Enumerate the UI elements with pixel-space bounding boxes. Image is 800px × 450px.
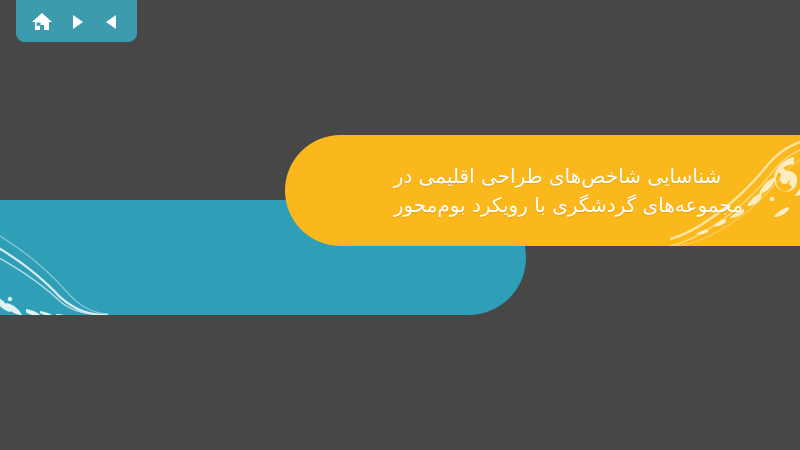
home-icon — [31, 11, 53, 33]
navigation-bar — [16, 0, 137, 42]
title-line-1: شناسایی شاخص‌های طراحی اقلیمی در — [394, 162, 722, 191]
title-banner: شناسایی شاخص‌های طراحی اقلیمی در مجموعه‌… — [285, 135, 800, 246]
previous-button[interactable] — [99, 9, 125, 35]
next-button[interactable] — [64, 9, 90, 35]
home-button[interactable] — [29, 9, 55, 35]
accent-bar-ornament-icon — [0, 200, 110, 315]
title-text-block: شناسایی شاخص‌های طراحی اقلیمی در مجموعه‌… — [394, 135, 800, 246]
title-line-2: مجموعه‌های گردشگری با رویکرد بوم‌محور — [394, 191, 743, 220]
triangle-right-icon — [67, 12, 87, 32]
triangle-left-icon — [102, 12, 122, 32]
slide-canvas: شناسایی شاخص‌های طراحی اقلیمی در مجموعه‌… — [0, 0, 800, 450]
